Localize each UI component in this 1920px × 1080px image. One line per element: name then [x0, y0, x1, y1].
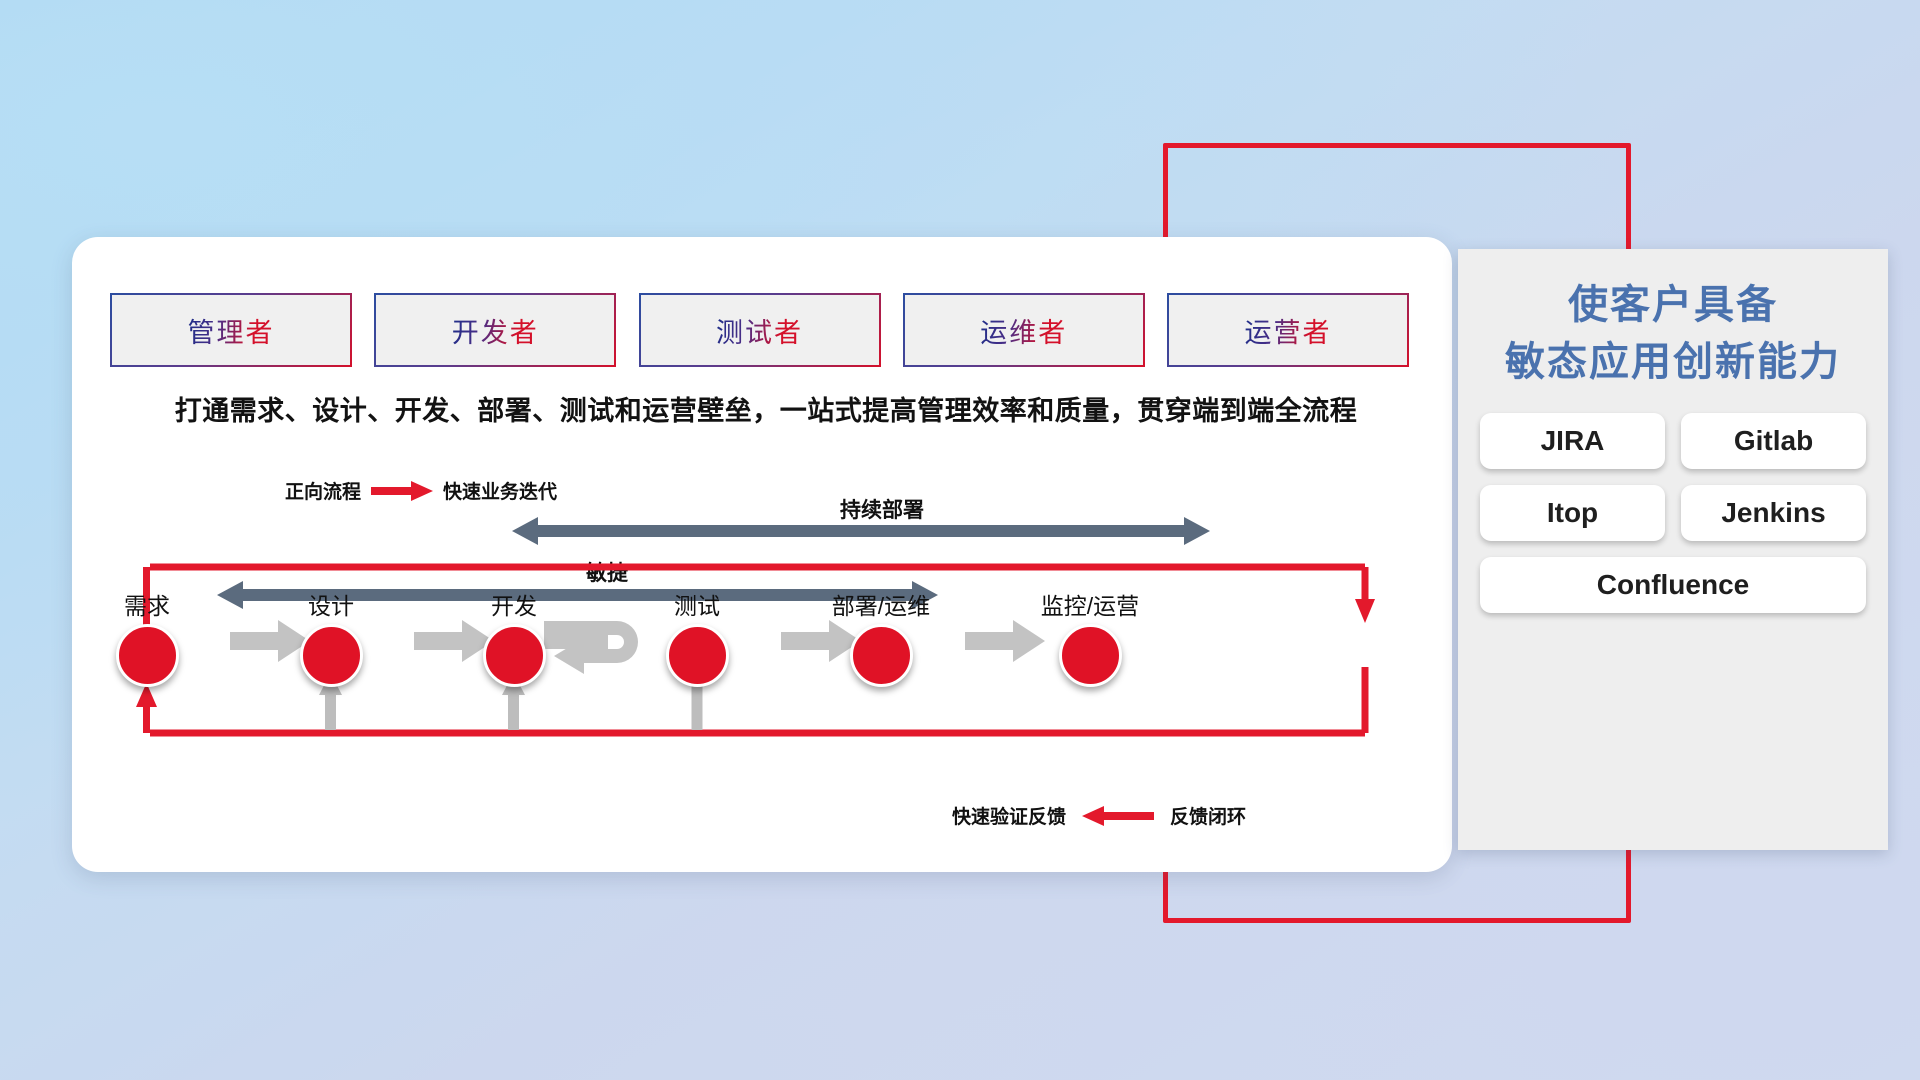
sidebar-title-line1: 使客户具备 [1458, 277, 1888, 334]
role-label: 管理者 [188, 311, 275, 350]
sidebar-title-line2: 敏态应用创新能力 [1458, 334, 1888, 391]
stage-node-requirements[interactable]: 需求 [92, 587, 202, 687]
tool-button-jenkins[interactable]: Jenkins [1681, 485, 1866, 541]
role-box-manager[interactable]: 管理者 [112, 295, 350, 365]
stage-dot [1059, 624, 1122, 687]
stage-label: 测试 [642, 587, 752, 621]
stage-dot [850, 624, 913, 687]
stage-label: 设计 [276, 587, 386, 621]
tool-button-jira[interactable]: JIRA [1480, 413, 1665, 469]
role-label: 开发者 [452, 311, 539, 350]
stage-node-design[interactable]: 设计 [276, 587, 386, 687]
tool-button-grid: JIRA Gitlab Itop Jenkins Confluence [1480, 413, 1866, 613]
role-box-operations[interactable]: 运营者 [1169, 295, 1407, 365]
tool-button-gitlab[interactable]: Gitlab [1681, 413, 1866, 469]
stage-node-monitor-operations[interactable]: 监控/运营 [1010, 587, 1170, 687]
stage-dot [666, 624, 729, 687]
sidebar-title: 使客户具备 敏态应用创新能力 [1458, 277, 1888, 391]
main-card: 管理者 开发者 测试者 运维者 运营者 打通需求、设计、开发、部署、测试和运营壁… [72, 237, 1452, 872]
stage-node-development[interactable]: 开发 [459, 587, 569, 687]
role-box-developer[interactable]: 开发者 [376, 295, 614, 365]
stage-dot [300, 624, 363, 687]
role-box-tester[interactable]: 测试者 [641, 295, 879, 365]
role-label: 运维者 [980, 311, 1067, 350]
stage-node-deploy-ops[interactable]: 部署/运维 [801, 587, 961, 687]
stage-dot [116, 624, 179, 687]
continuous-deploy-span-arrow [512, 517, 1210, 545]
stage-label: 开发 [459, 587, 569, 621]
role-label: 运营者 [1245, 311, 1332, 350]
stage-label: 需求 [92, 587, 202, 621]
stage-label: 监控/运营 [1010, 587, 1170, 621]
role-box-ops[interactable]: 运维者 [905, 295, 1143, 365]
stage-dot [483, 624, 546, 687]
tool-button-itop[interactable]: Itop [1480, 485, 1665, 541]
stage-label: 部署/运维 [801, 587, 961, 621]
sidebar-panel: 使客户具备 敏态应用创新能力 JIRA Gitlab Itop Jenkins … [1458, 249, 1888, 850]
tool-button-confluence[interactable]: Confluence [1480, 557, 1866, 613]
role-label: 测试者 [716, 311, 803, 350]
stage-node-testing[interactable]: 测试 [642, 587, 752, 687]
role-box-row: 管理者 开发者 测试者 运维者 运营者 [112, 295, 1407, 365]
